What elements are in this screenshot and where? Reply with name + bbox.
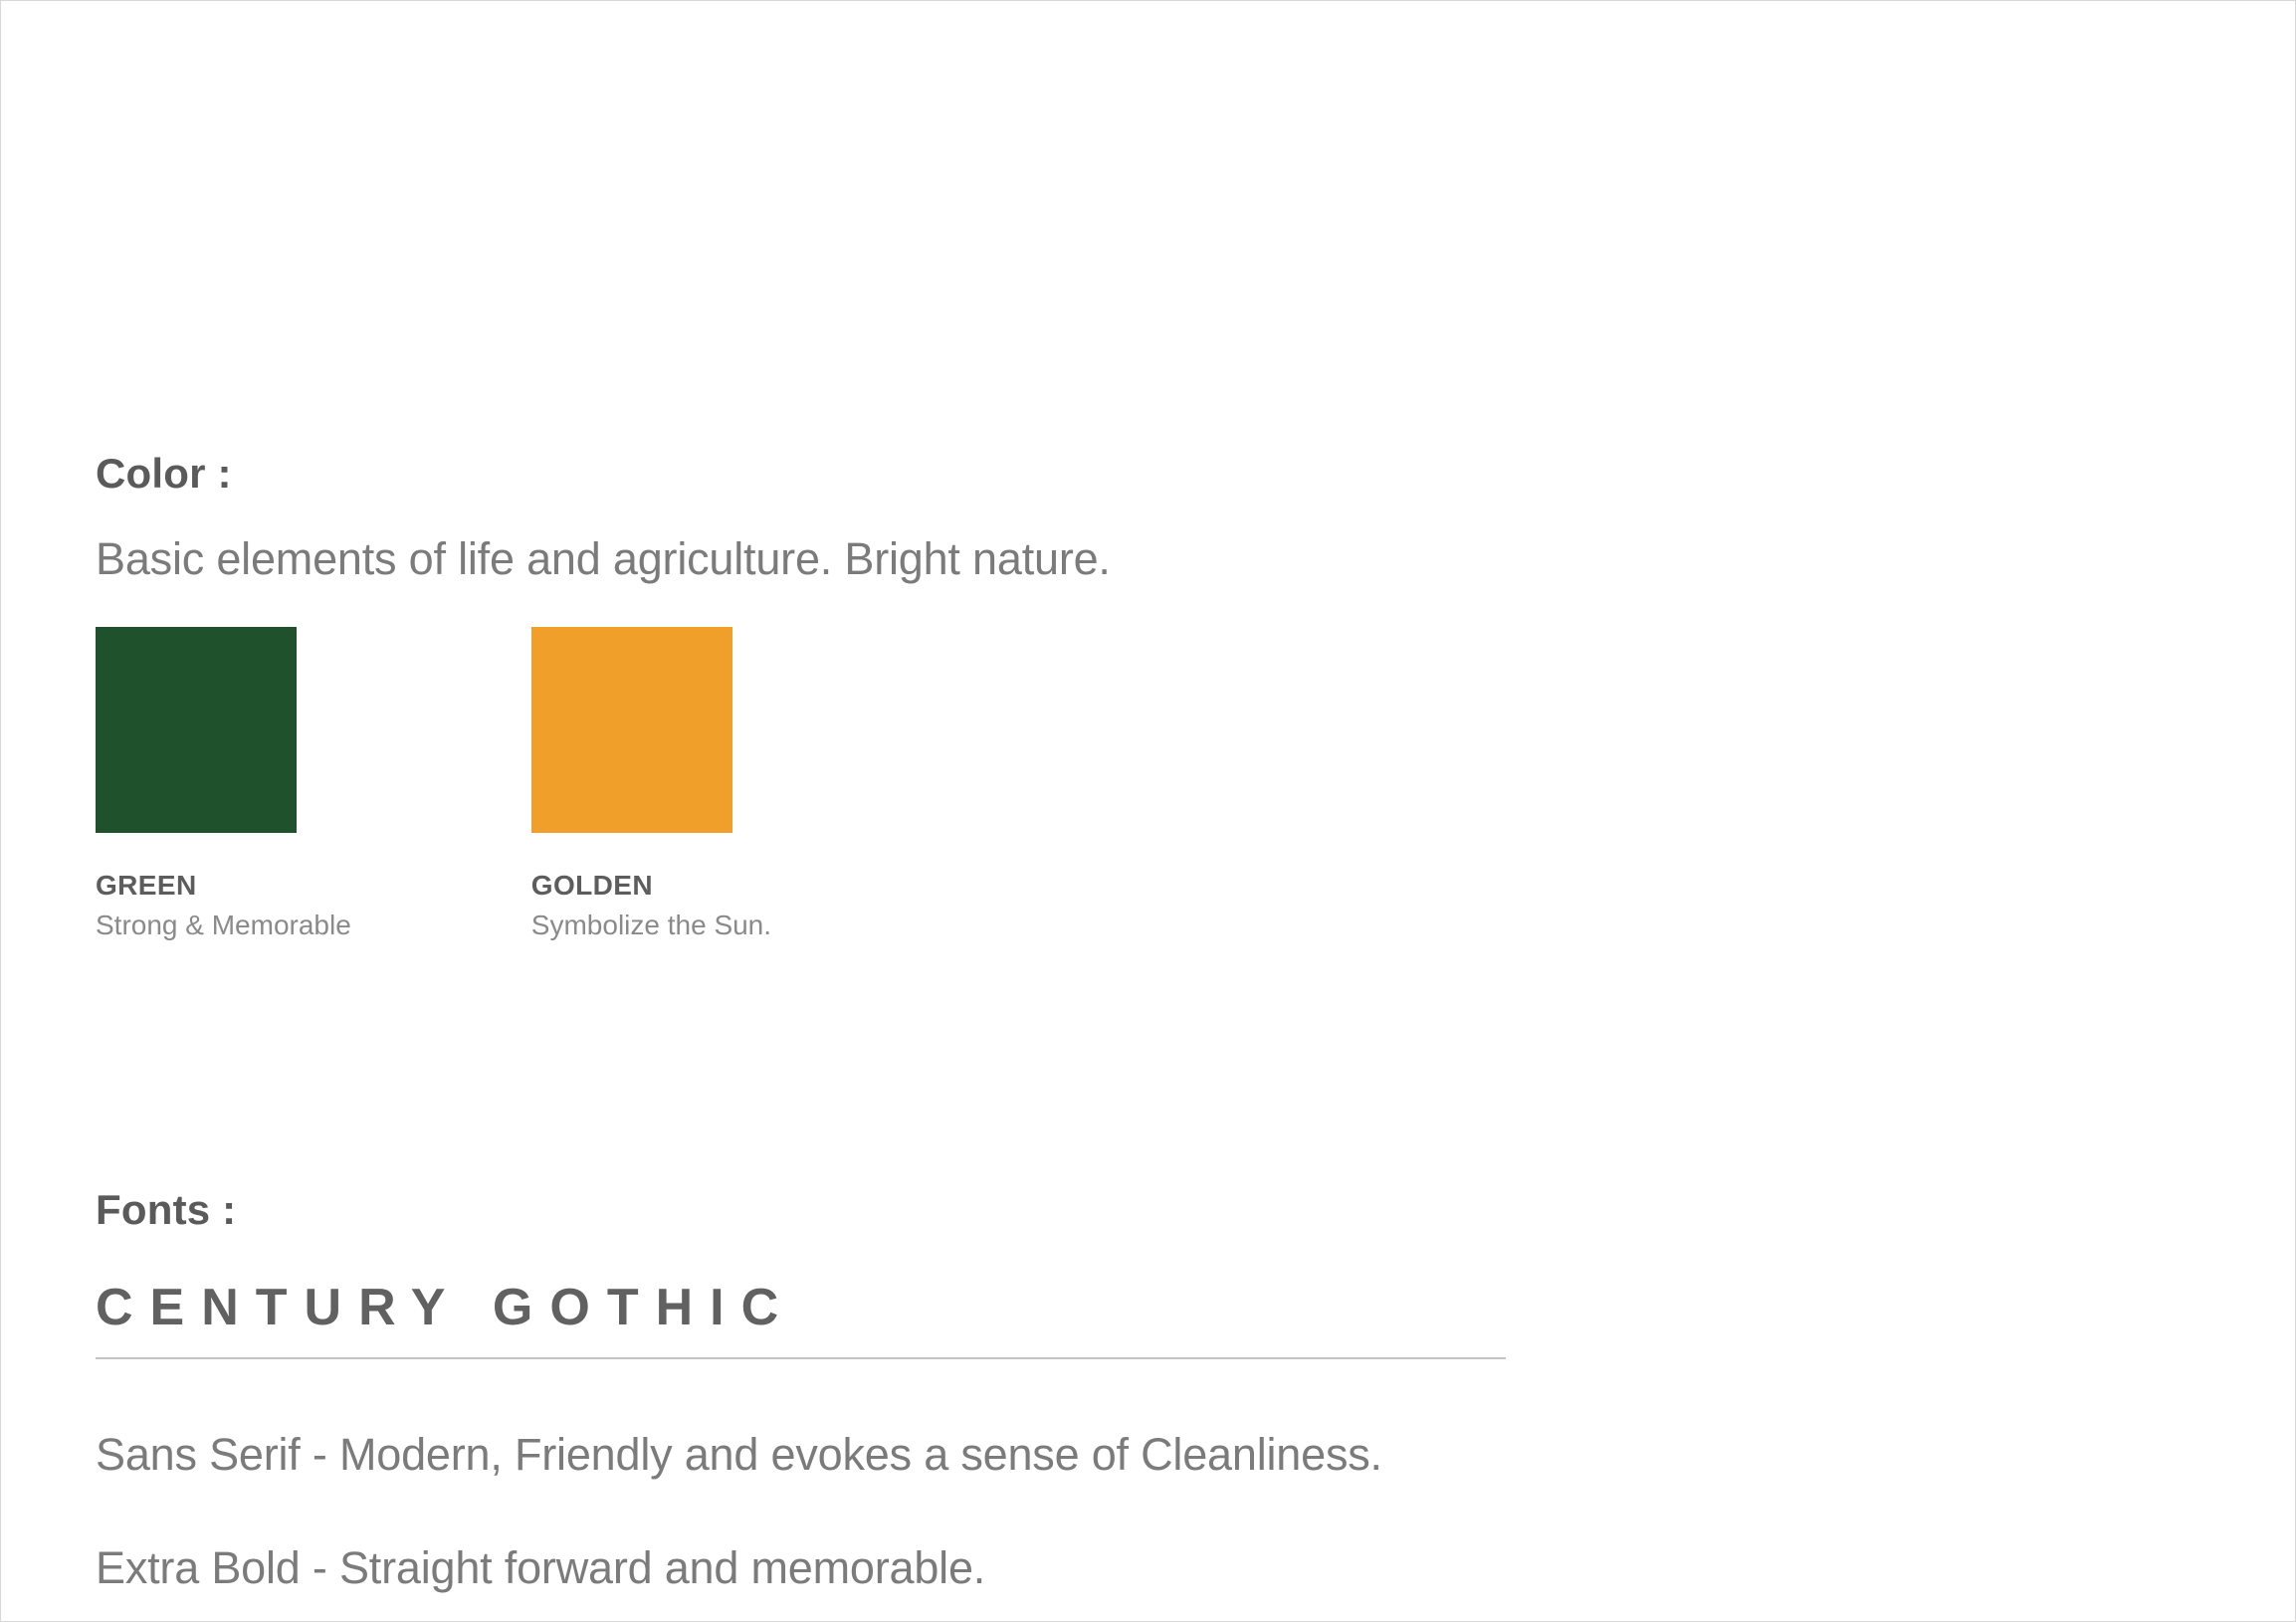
brand-style-guide-page: Color : Basic elements of life and agric…: [0, 0, 2296, 1622]
color-tagline: Basic elements of life and agriculture. …: [96, 497, 1588, 585]
color-section-heading: Color :: [96, 451, 1588, 497]
color-swatch-row: GREEN Strong & Memorable GOLDEN Symboliz…: [96, 585, 1588, 941]
green-swatch-description: Strong & Memorable: [96, 902, 351, 941]
font-note-line-2: Extra Bold - Straight forward and memora…: [96, 1522, 1588, 1591]
font-family-display-name: CENTURY GOTHIC: [96, 1233, 1588, 1335]
green-swatch-name: GREEN: [96, 833, 351, 902]
golden-swatch-chip: [531, 627, 732, 833]
font-divider-rule: [96, 1357, 1506, 1359]
green-swatch-chip: [96, 627, 297, 833]
font-note-line-1: Sans Serif - Modern, Friendly and evokes…: [96, 1404, 1588, 1478]
color-swatch-green: GREEN Strong & Memorable: [96, 627, 351, 941]
fonts-section: Fonts : CENTURY GOTHIC Sans Serif - Mode…: [96, 1187, 1588, 1622]
fonts-section-heading: Fonts :: [96, 1187, 1588, 1233]
color-swatch-golden: GOLDEN Symbolize the Sun.: [531, 627, 771, 941]
golden-swatch-description: Symbolize the Sun.: [531, 902, 771, 941]
golden-swatch-name: GOLDEN: [531, 833, 771, 902]
color-section: Color : Basic elements of life and agric…: [96, 451, 1588, 941]
